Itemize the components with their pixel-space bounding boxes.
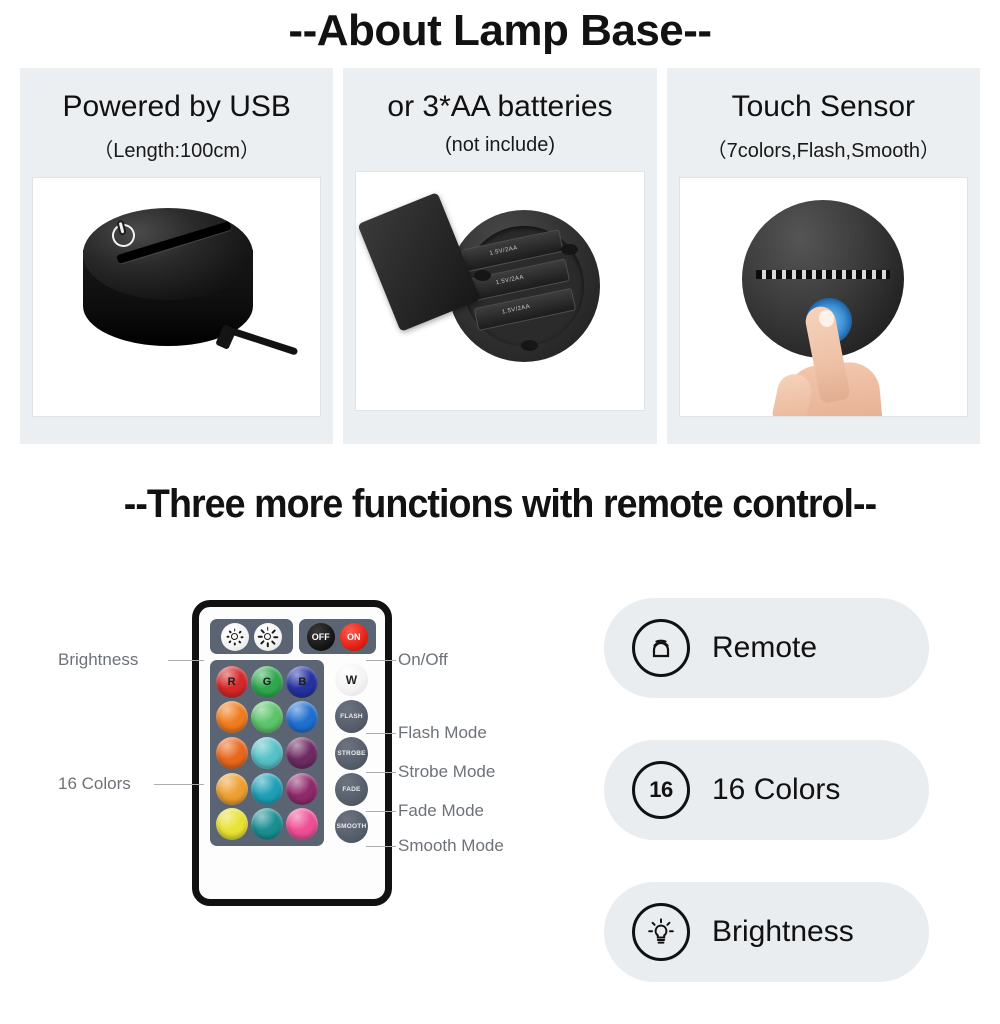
card-aa-batteries: or 3*AA batteries (not include) 1.5V/2AA… xyxy=(343,68,656,444)
feature-cards-row: Powered by USB （Length:100cm） or 3*AA ba… xyxy=(20,68,980,444)
color-button-10[interactable] xyxy=(216,773,248,805)
brightness-down-icon xyxy=(227,629,242,644)
white-color-button[interactable]: W xyxy=(335,663,368,696)
pill-label: Brightness xyxy=(712,915,854,949)
battery-label: 1.5V/2AA xyxy=(502,304,531,316)
callout-on-off: On/Off xyxy=(398,650,448,670)
color-button-6[interactable] xyxy=(286,701,318,733)
battery-bay: 1.5V/2AA 1.5V/2AA 1.5V/2AA xyxy=(461,224,584,347)
section-title-remote: --Three more functions with remote contr… xyxy=(30,482,970,527)
remote-control[interactable]: OFF ON RGB WFLASHSTROBEFADESMOOTH xyxy=(192,600,392,906)
color-button-11[interactable] xyxy=(251,773,283,805)
color-button-12[interactable] xyxy=(286,773,318,805)
feature-pill-list: Remote 16 16 Colors Brig xyxy=(604,598,929,1024)
off-button[interactable]: OFF xyxy=(307,623,335,651)
color-button-2[interactable]: G xyxy=(251,666,283,698)
brightness-up-button[interactable] xyxy=(254,623,282,651)
bulb-brightness-icon xyxy=(632,903,690,961)
color-button-8[interactable] xyxy=(251,737,283,769)
touch-sensor-photo xyxy=(679,177,968,417)
page-title: --About Lamp Base-- xyxy=(0,6,1000,56)
card-title: Powered by USB xyxy=(62,90,290,123)
battery-label: 1.5V/2AA xyxy=(496,274,525,286)
flash-mode-button[interactable]: FLASH xyxy=(335,700,368,733)
infographic-page: --About Lamp Base-- Powered by USB （Leng… xyxy=(0,0,1000,1000)
power-button-group: OFF ON xyxy=(299,619,376,654)
pill-brightness: Brightness xyxy=(604,882,929,982)
color-button-grid: RGB xyxy=(210,660,324,846)
color-button-1[interactable]: R xyxy=(216,666,248,698)
color-button-7[interactable] xyxy=(216,737,248,769)
callout-brightness: Brightness xyxy=(58,650,138,670)
pill-label: 16 Colors xyxy=(712,773,840,807)
usb-lamp-base-photo xyxy=(32,177,321,417)
led-strip xyxy=(756,270,890,279)
brightness-up-icon xyxy=(260,629,275,644)
callout-strobe-mode: Strobe Mode xyxy=(398,762,495,782)
pill-label: Remote xyxy=(712,631,817,665)
card-title: Touch Sensor xyxy=(732,90,915,123)
color-button-4[interactable] xyxy=(216,701,248,733)
leader-line xyxy=(366,811,396,812)
sixteen-circle-icon: 16 xyxy=(632,761,690,819)
sixteen-badge-text: 16 xyxy=(649,777,672,803)
smooth-mode-button[interactable]: SMOOTH xyxy=(335,810,368,843)
card-subtitle: （7colors,Flash,Smooth） xyxy=(707,134,940,163)
remote-signal-icon xyxy=(632,619,690,677)
card-powered-by-usb: Powered by USB （Length:100cm） xyxy=(20,68,333,444)
callout-flash-mode: Flash Mode xyxy=(398,723,487,743)
fade-mode-button[interactable]: FADE xyxy=(335,773,368,806)
color-button-15[interactable] xyxy=(286,808,318,840)
on-button[interactable]: ON xyxy=(340,623,368,651)
usb-cable xyxy=(230,327,299,355)
callout-smooth-mode: Smooth Mode xyxy=(398,836,504,856)
card-subtitle: （Length:100cm） xyxy=(93,134,260,163)
color-button-5[interactable] xyxy=(251,701,283,733)
leader-line xyxy=(154,784,204,785)
pill-16-colors: 16 16 Colors xyxy=(604,740,929,840)
brightness-button-group xyxy=(210,619,293,654)
callout-fade-mode: Fade Mode xyxy=(398,801,484,821)
color-button-14[interactable] xyxy=(251,808,283,840)
brightness-down-button[interactable] xyxy=(221,623,249,651)
leader-line xyxy=(366,660,396,661)
callout-16-colors: 16 Colors xyxy=(58,774,131,794)
leader-line xyxy=(168,660,204,661)
battery-label: 1.5V/2AA xyxy=(489,245,518,257)
strobe-mode-button[interactable]: STROBE xyxy=(335,737,368,770)
color-button-9[interactable] xyxy=(286,737,318,769)
card-touch-sensor: Touch Sensor （7colors,Flash,Smooth） xyxy=(667,68,980,444)
card-subtitle: (not include) xyxy=(445,134,555,157)
color-button-13[interactable] xyxy=(216,808,248,840)
mode-button-column: WFLASHSTROBEFADESMOOTH xyxy=(327,660,376,846)
battery-compartment-photo: 1.5V/2AA 1.5V/2AA 1.5V/2AA xyxy=(355,171,644,411)
leader-line xyxy=(366,846,396,847)
card-title: or 3*AA batteries xyxy=(387,90,612,123)
leader-line xyxy=(366,772,396,773)
pill-remote: Remote xyxy=(604,598,929,698)
remote-top-row: OFF ON xyxy=(210,619,376,654)
leader-line xyxy=(366,733,396,734)
color-button-3[interactable]: B xyxy=(286,666,318,698)
